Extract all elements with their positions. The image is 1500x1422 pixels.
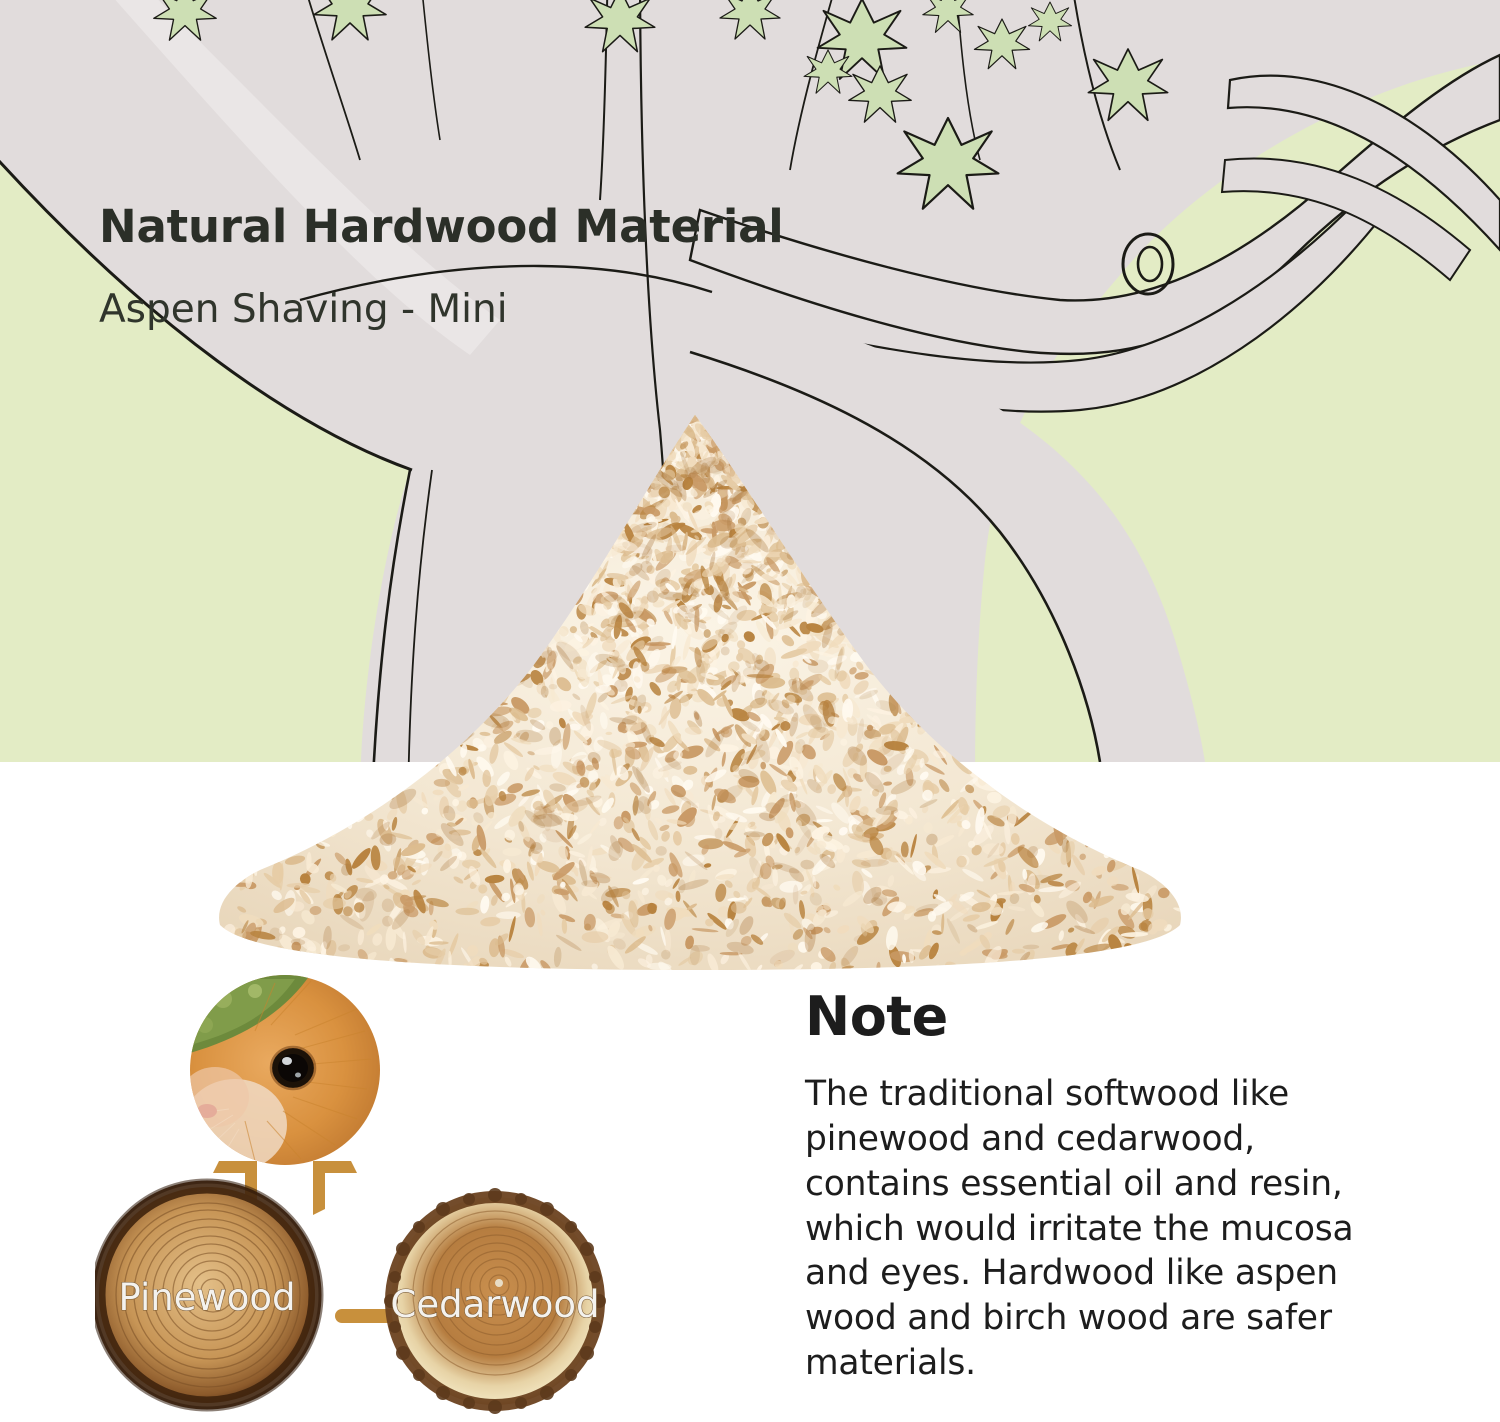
shaving-flake: [537, 612, 548, 626]
shaving-flake: [820, 568, 829, 579]
shaving-flake: [883, 634, 894, 650]
shaving-flake: [784, 501, 799, 508]
shaving-flake: [848, 563, 857, 579]
shaving-flake: [534, 605, 547, 619]
shaving-flake: [833, 559, 845, 570]
shaving-flake: [1048, 962, 1073, 970]
shaving-flake: [934, 646, 940, 668]
shaving-flake: [935, 672, 963, 698]
shaving-flake: [757, 456, 771, 470]
shaving-flake: [353, 771, 361, 799]
shaving-flake: [640, 436, 654, 457]
shaving-flake: [709, 400, 724, 429]
shaving-flake: [446, 648, 457, 657]
shaving-flake: [347, 790, 353, 807]
shaving-flake: [700, 404, 714, 425]
shaving-flake: [569, 514, 590, 537]
shaving-flake: [874, 579, 882, 589]
shaving-flake: [571, 501, 597, 522]
shaving-shadow: [535, 583, 547, 596]
shaving-flake: [668, 413, 682, 438]
shaving-flake: [624, 470, 640, 487]
shaving-flake: [582, 533, 593, 543]
shaving-flake: [626, 463, 631, 477]
shaving-flake: [625, 449, 644, 469]
shaving-flake: [767, 461, 783, 484]
shaving-flake: [747, 430, 758, 447]
shaving-flake: [751, 451, 759, 460]
shaving-flake: [591, 527, 608, 543]
shaving-flake: [446, 687, 470, 694]
shaving-flake: [514, 619, 536, 648]
shaving-flake: [826, 591, 848, 598]
shaving-flake: [671, 416, 682, 429]
shaving-flake: [1002, 726, 1031, 737]
shaving-flake: [676, 414, 681, 433]
cedarwood-disc-label: Cedarwood: [391, 1283, 600, 1326]
shaving-flake: [924, 703, 936, 712]
shaving-shadow: [573, 541, 596, 567]
shaving-shadow: [957, 743, 975, 759]
shaving-flake: [796, 540, 803, 548]
shaving-flake: [942, 646, 950, 652]
shaving-flake: [655, 426, 664, 444]
shaving-flake: [473, 687, 481, 697]
shaving-flake: [731, 431, 745, 457]
shaving-flake: [342, 768, 352, 777]
shaving-shadow: [756, 490, 780, 507]
shaving-flake: [817, 550, 845, 578]
shaving-flake: [767, 465, 780, 478]
shaving-flake: [941, 668, 947, 680]
shaving-flake: [561, 533, 571, 543]
shaving-flake: [574, 519, 598, 545]
shaving-flake: [426, 662, 449, 674]
shaving-flake: [743, 444, 756, 473]
shaving-flake: [538, 573, 545, 583]
shaving-flake: [736, 447, 749, 459]
shaving-flake: [798, 489, 817, 511]
shaving-flake: [561, 520, 582, 547]
shaving-shadow: [888, 632, 912, 656]
shaving-flake: [1003, 729, 1016, 744]
shaving-flake: [945, 703, 954, 713]
shaving-flake: [345, 771, 357, 781]
shaving-flake: [458, 634, 474, 653]
shaving-flake: [471, 694, 484, 700]
shaving-flake: [799, 514, 819, 532]
shaving-flake: [441, 682, 468, 696]
shaving-shadow: [629, 480, 643, 496]
shaving-flake: [560, 563, 585, 588]
shaving-flake: [874, 627, 894, 646]
shaving-flake: [1097, 817, 1116, 824]
shaving-flake: [464, 615, 483, 634]
shaving-flake: [877, 599, 889, 612]
shaving-flake: [559, 573, 571, 601]
shaving-flake: [931, 723, 943, 734]
shaving-flake: [657, 421, 676, 427]
shaving-flake: [427, 676, 452, 696]
shaving-flake: [490, 638, 512, 658]
shaving-flake: [988, 698, 1003, 715]
shaving-flake: [757, 476, 768, 486]
shaving-flake: [806, 510, 821, 521]
shaving-flake: [486, 667, 502, 671]
shaving-flake: [711, 418, 737, 437]
shaving-flake: [815, 534, 830, 546]
shaving-flake: [613, 489, 627, 508]
shaving-flake: [814, 506, 828, 523]
shaving-flake: [760, 469, 775, 483]
shaving-flake: [629, 448, 637, 464]
shaving-flake: [524, 597, 543, 617]
shaving-flake: [738, 457, 761, 480]
shaving-flake: [688, 400, 712, 420]
shaving-flake: [431, 753, 442, 762]
shaving-flake: [950, 666, 965, 681]
shaving-flake: [376, 737, 394, 754]
shaving-flake: [820, 544, 845, 558]
shaving-flake: [422, 731, 442, 753]
shaving-flake: [563, 555, 584, 573]
shaving-flake: [332, 771, 342, 781]
shaving-flake: [450, 707, 467, 736]
shaving-flake: [1065, 955, 1077, 967]
shaving-flake: [944, 679, 959, 694]
shaving-flake: [847, 596, 863, 620]
shaving-flake: [911, 663, 918, 687]
shaving-flake: [797, 549, 810, 566]
shaving-flake: [760, 494, 774, 508]
shaving-flake: [1044, 959, 1060, 970]
shaving-flake: [890, 644, 901, 651]
shaving-flake: [927, 680, 938, 687]
shaving-flake: [755, 442, 764, 466]
shaving-flake: [703, 412, 722, 432]
shaving-flake: [494, 593, 505, 604]
shaving-flake: [660, 425, 675, 439]
shaving-flake: [1019, 767, 1036, 779]
shaving-flake: [409, 774, 416, 781]
shaving-flake: [713, 428, 726, 440]
shaving-flake: [485, 676, 510, 685]
shaving-flake: [756, 449, 778, 473]
shaving-flake: [794, 517, 807, 530]
shaving-flake: [639, 446, 649, 454]
shaving-flake: [627, 463, 639, 476]
shaving-flake: [825, 567, 844, 587]
shaving-flake: [848, 609, 864, 633]
shaving-flake: [1158, 940, 1171, 951]
shaving-flake: [956, 738, 967, 750]
shaving-flake: [533, 630, 551, 645]
shaving-flake: [876, 638, 887, 650]
shaving-flake: [1104, 960, 1113, 965]
shaving-flake: [970, 737, 984, 752]
shaving-flake: [701, 404, 719, 414]
shaving-flake: [940, 644, 960, 666]
shaving-flake: [410, 753, 430, 766]
shaving-flake: [474, 614, 490, 631]
shaving-flake: [518, 614, 525, 633]
shaving-flake: [687, 406, 711, 415]
shaving-shadow: [906, 698, 920, 709]
shaving-flake: [1108, 833, 1132, 858]
shaving-flake: [554, 533, 581, 553]
shaving-flake: [895, 641, 905, 653]
note-heading: Note: [805, 990, 1375, 1044]
shaving-flake: [408, 693, 428, 713]
shaving-flake: [707, 424, 732, 437]
shaving-flake: [922, 719, 932, 731]
shaving-flake: [726, 431, 734, 453]
shaving-flake: [896, 643, 908, 652]
shaving-flake: [527, 557, 537, 574]
shaving-flake: [788, 506, 799, 517]
shaving-flake: [862, 618, 880, 636]
shaving-flake: [809, 519, 819, 540]
shaving-flake: [1175, 941, 1184, 950]
shaving-flake: [571, 577, 585, 590]
shaving-flake: [815, 550, 840, 567]
shaving-flake: [1190, 923, 1202, 929]
shaving-flake: [477, 627, 505, 652]
shaving-flake: [706, 410, 713, 423]
shaving-flake: [706, 404, 723, 423]
shaving-flake: [617, 459, 634, 476]
shaving-flake: [756, 457, 780, 482]
shaving-flake: [706, 408, 726, 420]
shaving-flake: [863, 640, 875, 654]
shaving-flake: [636, 446, 646, 462]
shaving-flake: [910, 618, 925, 631]
shaving-flake: [328, 797, 346, 826]
shaving-flake: [821, 558, 842, 572]
shaving-flake: [653, 447, 667, 458]
shaving-flake: [653, 414, 667, 437]
shaving-flake: [1059, 785, 1070, 812]
shaving-flake: [730, 446, 745, 455]
shaving-flake: [535, 546, 553, 573]
shaving-flake: [652, 431, 672, 452]
shaving-flake: [677, 418, 688, 428]
shaving-flake: [657, 432, 665, 440]
shaving-flake: [714, 431, 732, 441]
shaving-flake: [902, 688, 923, 703]
shaving-flake: [928, 689, 946, 707]
shaving-flake: [954, 719, 971, 731]
shaving-flake: [729, 444, 745, 460]
shaving-flake: [286, 812, 310, 840]
shaving-flake: [333, 811, 344, 822]
shaving-flake: [596, 514, 608, 537]
shaving-flake: [953, 673, 960, 683]
shaving-flake: [845, 552, 857, 577]
shaving-flake: [699, 414, 711, 422]
shaving-flake: [811, 537, 840, 551]
shaving-flake: [995, 780, 1009, 788]
shaving-flake: [651, 460, 661, 470]
shaving-flake: [720, 422, 734, 436]
shaving-flake: [567, 529, 595, 541]
shaving-flake: [656, 450, 665, 463]
shaving-flake: [811, 524, 822, 536]
shaving-flake: [757, 465, 779, 478]
shaving-flake: [487, 595, 511, 615]
shaving-flake: [314, 823, 332, 839]
shaving-flake: [607, 518, 617, 543]
shaving-flake: [846, 555, 861, 569]
shaving-flake: [659, 438, 670, 446]
shaving-flake: [423, 674, 434, 692]
shaving-flake: [963, 688, 980, 710]
shaving-flake: [932, 650, 945, 662]
shaving-flake: [866, 603, 879, 615]
shaving-flake: [963, 750, 983, 764]
shaving-flake: [1002, 766, 1027, 773]
shaving-flake: [634, 441, 651, 465]
shaving-flake: [624, 463, 638, 476]
shaving-flake: [731, 413, 743, 432]
shaving-flake: [704, 404, 716, 422]
shaving-flake: [643, 428, 670, 454]
shaving-shadow: [809, 545, 832, 568]
shaving-flake: [668, 424, 674, 450]
shaving-flake: [672, 420, 680, 437]
shaving-flake: [462, 696, 486, 724]
shaving-flake: [766, 454, 777, 470]
shaving-flake: [538, 565, 563, 575]
note-section: Note The traditional softwood like pinew…: [805, 990, 1375, 1386]
shaving-flake: [747, 450, 755, 458]
shaving-flake: [916, 629, 937, 641]
shaving-flake: [627, 463, 649, 485]
shaving-flake: [831, 568, 843, 580]
shaving-flake: [585, 535, 610, 548]
shaving-flake: [495, 614, 512, 638]
shaving-flake: [564, 530, 574, 540]
shaving-flake: [907, 640, 920, 663]
shaving-shadow: [518, 603, 536, 634]
shaving-flake: [510, 571, 531, 594]
shaving-flake: [840, 583, 851, 600]
shaving-flake: [954, 654, 972, 674]
shaving-flake: [571, 518, 587, 532]
shaving-flake: [1039, 789, 1056, 808]
shaving-flake: [434, 672, 451, 687]
shaving-flake: [815, 553, 826, 565]
shaving-flake: [515, 657, 527, 669]
shaving-flake: [613, 506, 628, 520]
shaving-flake: [977, 699, 990, 712]
shaving-flake: [930, 717, 942, 727]
shaving-flake: [743, 448, 749, 467]
shaving-flake: [908, 658, 923, 686]
shaving-flake: [402, 697, 411, 712]
shaving-shadow: [784, 516, 808, 537]
shaving-flake: [1043, 810, 1068, 822]
shaving-flake: [783, 534, 797, 548]
shaving-flake: [870, 611, 895, 622]
shaving-flake: [441, 720, 453, 746]
shaving-flake: [366, 734, 379, 743]
shaving-shadow: [743, 461, 762, 475]
shaving-flake: [627, 454, 646, 470]
shaving-flake: [551, 538, 558, 543]
shaving-flake: [862, 607, 871, 618]
shaving-flake: [901, 841, 909, 857]
shaving-flake: [982, 727, 988, 752]
shaving-flake: [628, 491, 633, 501]
shaving-flake: [624, 472, 634, 480]
shaving-flake: [817, 544, 840, 563]
shaving-flake: [1003, 765, 1015, 778]
shaving-flake: [628, 456, 645, 469]
shaving-flake: [726, 438, 745, 454]
shaving-flake: [738, 466, 753, 474]
shaving-flake: [767, 494, 783, 519]
shaving-flake: [407, 739, 417, 757]
shaving-flake: [738, 458, 751, 468]
shaving-shadow: [512, 604, 535, 625]
shaving-flake: [725, 419, 740, 438]
shaving-flake: [521, 632, 537, 651]
shaving-flake: [1019, 767, 1032, 783]
shaving-flake: [676, 403, 693, 419]
shaving-flake: [1153, 955, 1168, 970]
shaving-flake: [870, 571, 883, 591]
shaving-flake: [966, 758, 985, 770]
shaving-shadow: [533, 579, 562, 600]
shaving-flake: [586, 557, 599, 562]
shaving-flake: [889, 669, 913, 678]
shaving-flake: [587, 500, 594, 513]
shaving-flake: [434, 659, 451, 673]
shaving-flake: [679, 400, 693, 418]
shaving-flake: [921, 623, 936, 635]
shaving-flake: [817, 547, 833, 559]
shaving-flake: [827, 589, 838, 604]
shaving-flake: [885, 647, 892, 666]
shaving-flake: [1120, 842, 1148, 854]
shaving-flake: [483, 685, 496, 699]
shaving-flake: [594, 483, 603, 508]
shaving-flake: [638, 472, 645, 486]
shaving-flake: [773, 497, 777, 521]
shaving-flake: [951, 670, 961, 685]
shaving-flake: [490, 609, 501, 622]
shaving-flake: [510, 616, 525, 625]
shaving-flake: [918, 683, 936, 698]
shaving-flake: [754, 482, 762, 497]
shaving-flake: [574, 516, 582, 525]
shaving-flake: [1031, 799, 1040, 805]
shaving-flake: [932, 641, 948, 652]
shaving-flake: [660, 416, 673, 431]
shaving-flake: [727, 448, 740, 461]
shaving-flake: [478, 671, 485, 681]
shaving-flake: [706, 405, 722, 429]
shaving-flake: [641, 443, 654, 456]
shaving-flake: [437, 745, 449, 756]
shaving-flake: [595, 477, 612, 505]
shaving-flake: [866, 605, 880, 619]
shaving-flake: [897, 640, 907, 652]
shaving-flake: [457, 648, 478, 656]
shaving-flake: [921, 648, 937, 672]
shaving-flake: [445, 731, 451, 747]
